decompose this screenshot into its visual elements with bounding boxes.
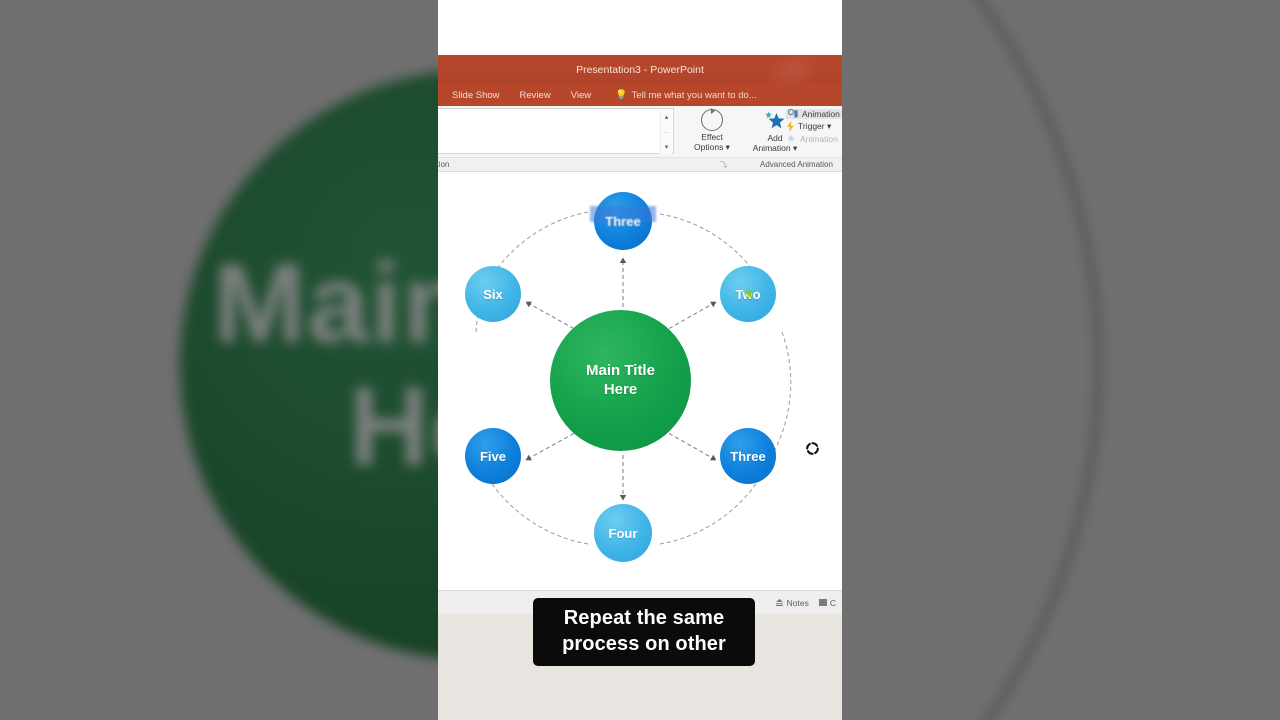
notes-icon — [775, 598, 784, 607]
star-plus-icon — [762, 109, 788, 133]
animation-pane-label: Animation — [802, 109, 840, 119]
caption-line1: Repeat the same — [543, 605, 745, 631]
node-six-label: Six — [483, 287, 503, 302]
center-title-line1: Main Title — [586, 362, 655, 381]
tell-me-box[interactable]: 💡 Tell me what you want to do... — [615, 90, 757, 101]
lightbulb-icon: 💡 — [615, 90, 627, 101]
advanced-animation-commands: Animation Trigger ▾ Animation — [786, 109, 842, 144]
animation-pane-icon — [788, 109, 799, 119]
node-six[interactable]: Six — [465, 266, 521, 322]
node-three-top-selected[interactable]: Three — [594, 192, 652, 250]
node-three-label: Three — [730, 449, 765, 464]
center-title-line2: Here — [586, 381, 655, 400]
tab-slide-show[interactable]: Slide Show — [438, 90, 510, 101]
lightning-icon — [786, 121, 795, 132]
window-title: Presentation3 - PowerPoint — [576, 64, 704, 76]
tell-me-label: Tell me what you want to do... — [632, 90, 757, 101]
animation-painter-button: Animation — [786, 134, 842, 144]
dialog-launcher-icon[interactable]: ⤵ — [720, 160, 727, 170]
trigger-label: Trigger ▾ — [798, 121, 831, 132]
tab-view[interactable]: View — [561, 90, 601, 101]
animation-painter-cursor-icon — [742, 287, 756, 301]
add-animation-line2: Animation ▾ — [753, 144, 797, 154]
node-two[interactable]: Two — [720, 266, 776, 322]
caption-line2: process on other — [543, 631, 745, 657]
node-four[interactable]: Four — [594, 504, 652, 562]
comments-button[interactable]: C — [819, 598, 836, 608]
node-five[interactable]: Five — [465, 428, 521, 484]
trigger-button[interactable]: Trigger ▾ — [786, 121, 842, 132]
animations-ribbon: ▴ ‒ ▾ Effect Options ▾ Add Animation ▾ — [438, 106, 842, 158]
gallery-scroll-mid-icon[interactable]: ‒ — [661, 125, 672, 139]
effect-options-button[interactable]: Effect Options ▾ — [684, 109, 740, 153]
group-label-advanced-animation: Advanced Animation — [760, 160, 833, 169]
animation-gallery[interactable]: ▴ ‒ ▾ — [438, 108, 674, 154]
notes-button[interactable]: Notes — [775, 598, 809, 608]
node-center[interactable]: Main Title Here — [550, 310, 691, 451]
group-label-animation: ation — [438, 160, 449, 169]
node-five-label: Five — [480, 449, 506, 464]
animation-painter-icon — [786, 134, 797, 144]
powerpoint-title-bar: Presentation3 - PowerPoint — [438, 55, 842, 84]
ribbon-group-labels: ation ⤵ Advanced Animation — [438, 158, 842, 172]
rotate-circle-icon — [701, 109, 723, 131]
busy-rotating-cursor-icon — [804, 440, 821, 457]
effect-options-line2: Options ▾ — [694, 143, 730, 153]
gallery-scroll-up-icon[interactable]: ▴ — [661, 110, 672, 124]
animation-painter-label: Animation — [800, 134, 838, 144]
comments-icon — [819, 599, 827, 606]
gallery-scrollbar[interactable]: ▴ ‒ ▾ — [660, 110, 672, 154]
gallery-scroll-down-icon[interactable]: ▾ — [661, 140, 672, 154]
animation-pane-button[interactable]: Animation — [786, 109, 842, 119]
notes-label: Notes — [787, 598, 809, 608]
tab-review[interactable]: Review — [510, 90, 561, 101]
ribbon-tab-bar: Slide Show Review View 💡 Tell me what yo… — [438, 84, 842, 106]
video-caption: Repeat the same process on other — [533, 598, 755, 666]
slide-canvas[interactable]: Main Title Here Three Two Six Five Three… — [438, 172, 842, 590]
video-content-column: Presentation3 - PowerPoint Slide Show Re… — [438, 0, 842, 720]
node-four-label: Four — [609, 526, 638, 541]
node-top-label: Three — [605, 214, 640, 229]
node-three[interactable]: Three — [720, 428, 776, 484]
comments-label: C — [830, 598, 836, 608]
